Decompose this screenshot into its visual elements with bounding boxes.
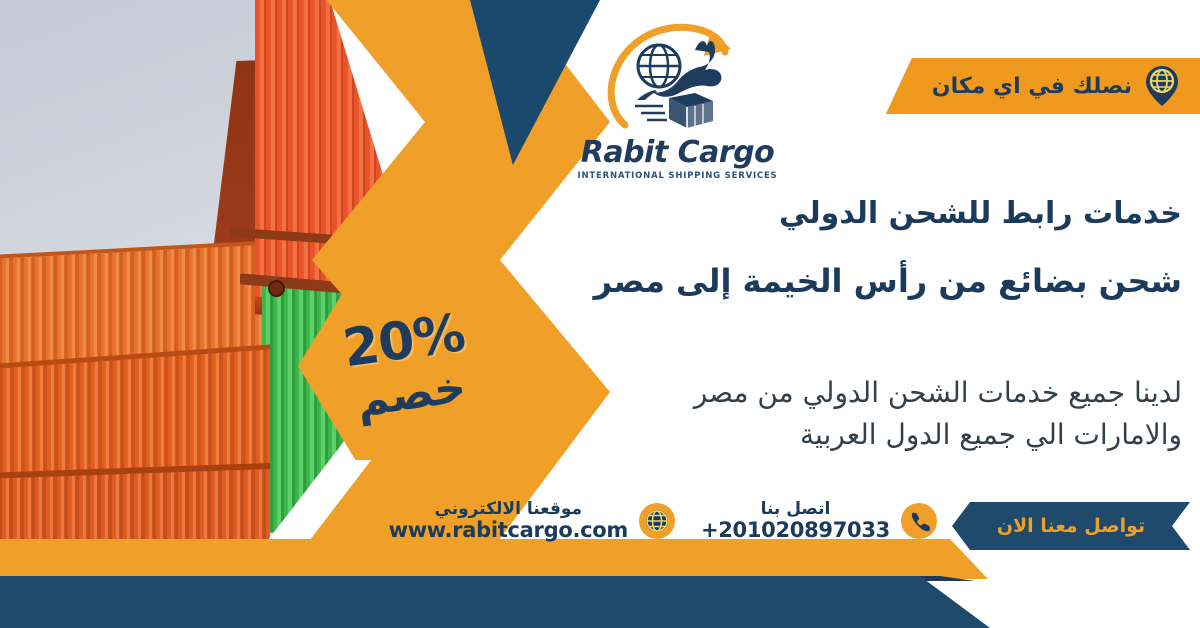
phone-label: اتصل بنا <box>701 500 890 519</box>
phone-number: +201020897033 <box>701 519 890 543</box>
logo-wordmark: Rabit Cargo <box>575 138 780 168</box>
contact-footer: تواصل معنا الان اتصل بنا +201020897033 <box>0 500 1200 560</box>
website-text-block: موقعنا الالكتروني www.rabitcargo.com <box>389 500 628 543</box>
logo-mark <box>603 22 753 142</box>
logo-tagline: INTERNATIONAL SHIPPING SERVICES <box>575 171 780 181</box>
heading-route: شحن بضائع من رأس الخيمة إلى مصر <box>572 262 1182 300</box>
rabbit-globe-box-icon <box>625 36 735 132</box>
navy-footer-bar <box>0 576 1030 628</box>
discount-badge: 20% خصم <box>290 276 524 459</box>
contact-phone[interactable]: اتصل بنا +201020897033 <box>701 500 938 543</box>
phone-text-block: اتصل بنا +201020897033 <box>701 500 890 543</box>
reach-anywhere-badge: نصلك في اي مكان <box>886 58 1200 114</box>
globe-icon <box>638 502 676 540</box>
description-text: لدينا جميع خدمات الشحن الدولي من مصر وال… <box>592 372 1182 456</box>
shipping-ad-poster: 20% خصم <box>0 0 1200 628</box>
website-url: www.rabitcargo.com <box>389 519 628 543</box>
brand-logo[interactable]: Rabit Cargo INTERNATIONAL SHIPPING SERVI… <box>575 22 780 181</box>
container-lock-icon <box>268 280 285 297</box>
contact-cta-button[interactable]: تواصل معنا الان <box>952 502 1190 550</box>
contact-website[interactable]: موقعنا الالكتروني www.rabitcargo.com <box>389 500 676 543</box>
website-label: موقعنا الالكتروني <box>389 500 628 519</box>
heading-services: خدمات رابط للشحن الدولي <box>582 196 1182 231</box>
phone-icon <box>900 502 938 540</box>
contact-cta-label: تواصل معنا الان <box>997 515 1145 537</box>
reach-anywhere-label: نصلك في اي مكان <box>932 74 1132 99</box>
globe-location-pin-icon <box>1142 64 1182 108</box>
